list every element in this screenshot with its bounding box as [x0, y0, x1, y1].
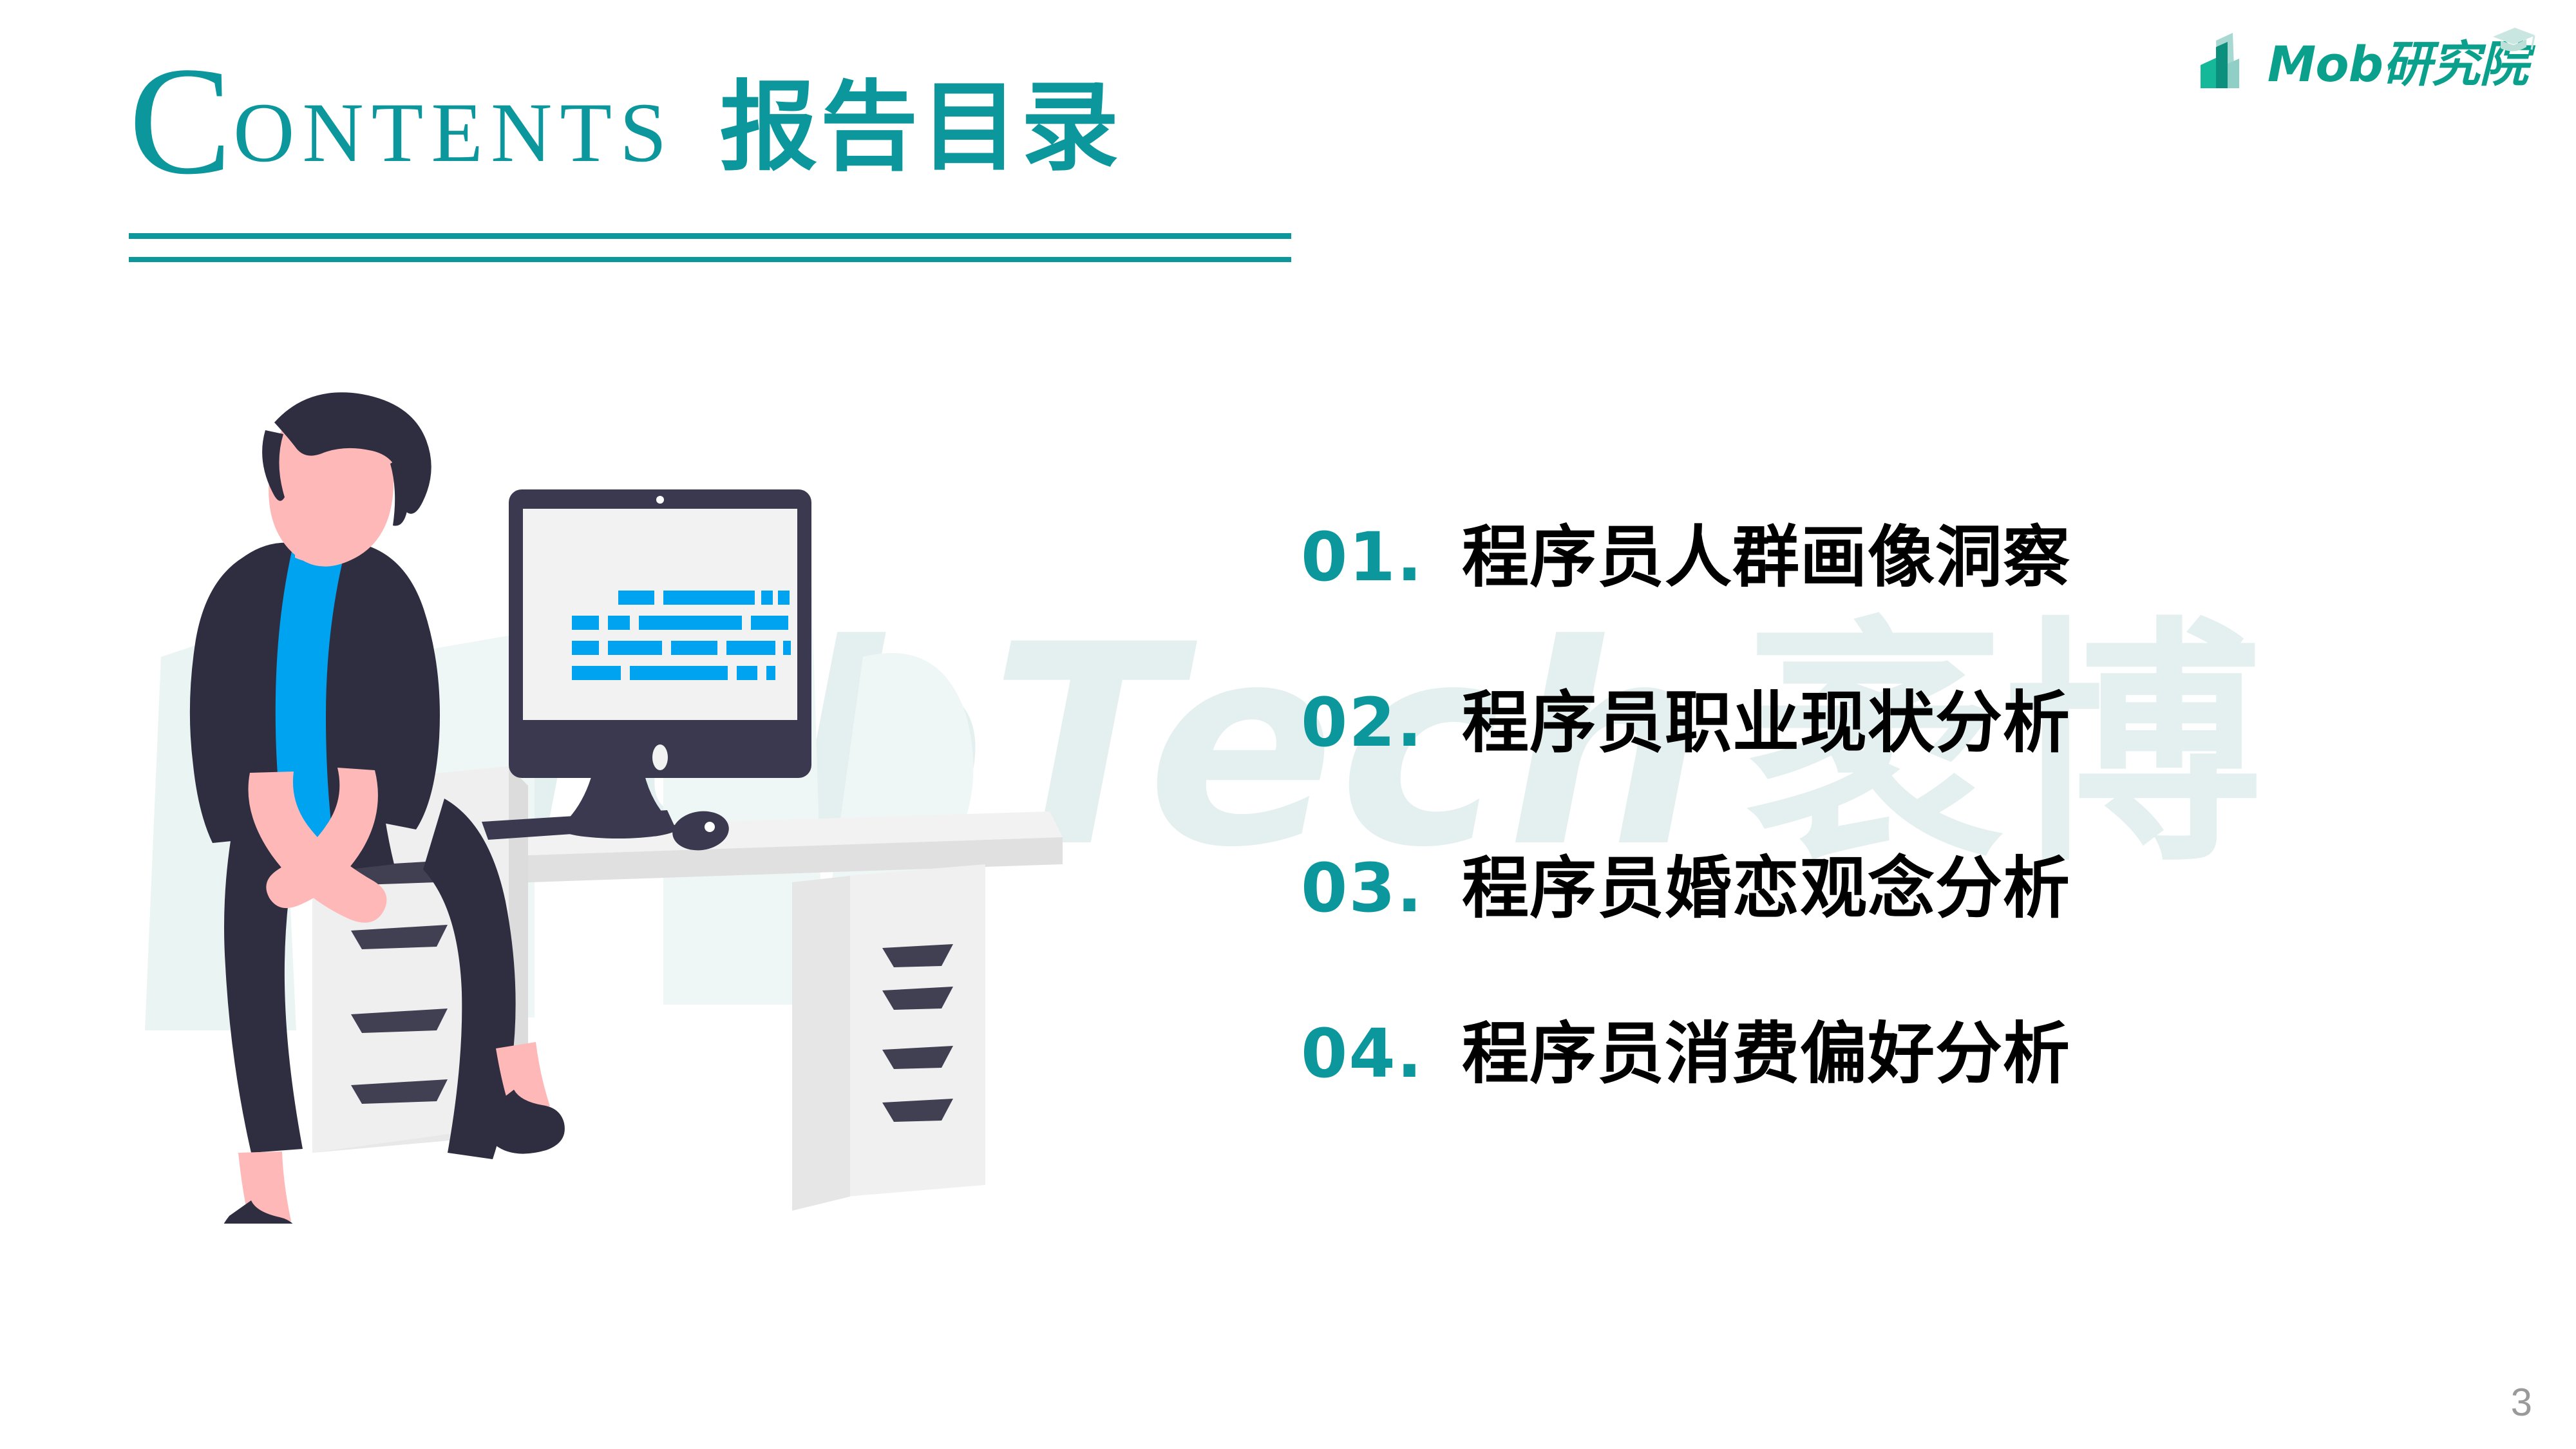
toc-number: 04.: [1301, 1014, 1462, 1093]
slide-header: C ONTENTS 报告目录: [0, 0, 2576, 283]
toc-number: 03.: [1301, 849, 1462, 927]
logo-wordmark: Mob研究院: [2268, 24, 2528, 95]
divider-line-bottom: [129, 257, 1291, 262]
title-latin-text: ONTENTS: [233, 83, 674, 182]
toc-label: 程序员职业现状分析: [1462, 668, 2070, 765]
divider-line-top: [129, 233, 1291, 239]
toc-label: 程序员人群画像洞察: [1462, 502, 2070, 600]
bar-chart-mark-icon: [2194, 30, 2256, 90]
title-cjk-text: 报告目录: [719, 48, 1121, 189]
title-initial-letter: C: [129, 47, 232, 194]
toc-number: 02.: [1301, 683, 1462, 762]
title-divider: [129, 233, 1291, 262]
contents-list: 01. 程序员人群画像洞察 02. 程序员职业现状分析 03. 程序员婚恋观念分…: [1301, 502, 2396, 1096]
page-number: 3: [2511, 1380, 2532, 1425]
graduation-cap-icon: [2492, 8, 2537, 33]
toc-label: 程序员消费偏好分析: [1462, 999, 2070, 1096]
toc-number: 01.: [1301, 518, 1462, 596]
logo-text-label: Mob研究院: [2268, 35, 2528, 93]
page-title: C ONTENTS 报告目录: [129, 35, 1121, 189]
toc-label: 程序员婚恋观念分析: [1462, 833, 2070, 931]
list-item[interactable]: 04. 程序员消费偏好分析: [1301, 999, 2396, 1096]
list-item[interactable]: 02. 程序员职业现状分析: [1301, 668, 2396, 765]
brand-logo: Mob研究院: [2194, 24, 2528, 95]
list-item[interactable]: 03. 程序员婚恋观念分析: [1301, 833, 2396, 931]
list-item[interactable]: 01. 程序员人群画像洞察: [1301, 502, 2396, 600]
programmer-at-desk-illustration: [84, 386, 1088, 1224]
